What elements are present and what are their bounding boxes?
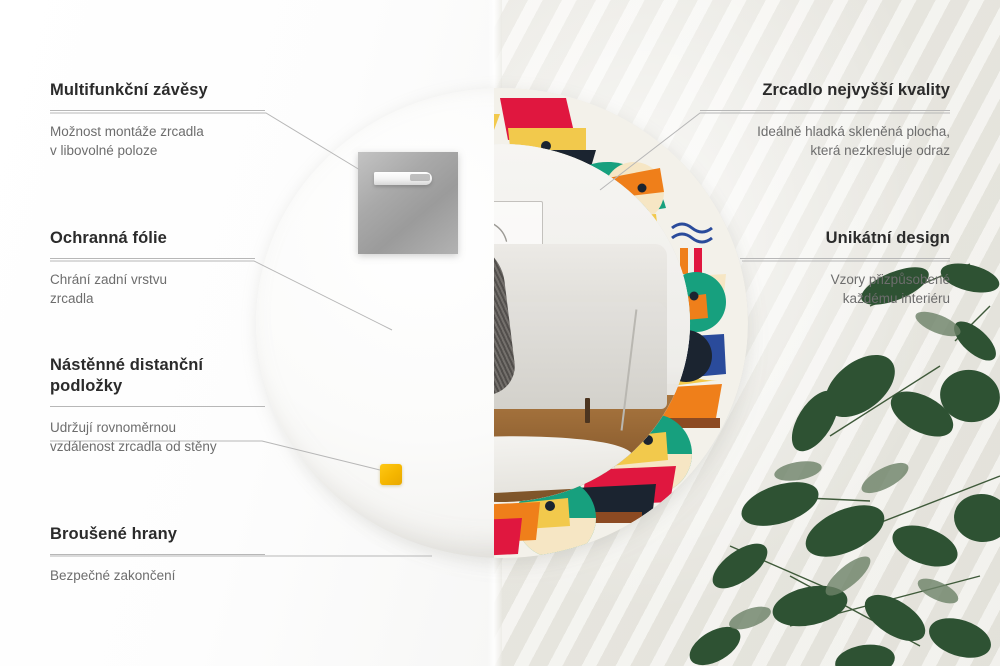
callout-desc: Vzory přizpůsobené každému interiéru xyxy=(740,270,950,308)
callout-desc-line: která nezkresluje odraz xyxy=(700,141,950,160)
callout-desc: Možnost montáže zrcadla v libovolné polo… xyxy=(50,122,265,160)
hanger-plate xyxy=(358,152,458,254)
callout-rule xyxy=(50,258,255,259)
round-mirror-product xyxy=(256,88,748,558)
callout-multifunctional-hangers: Multifunkční závěsy Možnost montáže zrca… xyxy=(50,80,265,160)
callout-title-line: podložky xyxy=(50,376,265,397)
callout-desc: Ideálně hladká skleněná plocha, která ne… xyxy=(700,122,950,160)
callout-rule xyxy=(50,406,265,407)
callout-desc: Chrání zadní vrstvu zrcadla xyxy=(50,270,255,308)
callout-rule xyxy=(740,258,950,259)
callout-wall-spacers: Nástěnné distanční podložky Udržují rovn… xyxy=(50,355,265,456)
callout-title: Broušené hrany xyxy=(50,524,265,545)
callout-rule xyxy=(50,110,265,111)
callout-protective-film: Ochranná fólie Chrání zadní vrstvu zrcad… xyxy=(50,228,255,308)
callout-desc-line: v libovolné poloze xyxy=(50,141,265,160)
callout-polished-edges: Broušené hrany Bezpečné zakončení xyxy=(50,524,265,585)
callout-title: Ochranná fólie xyxy=(50,228,255,249)
callout-top-quality-mirror: Zrcadlo nejvyšší kvality Ideálně hladká … xyxy=(700,80,950,160)
callout-title: Unikátní design xyxy=(740,228,950,249)
callout-desc-line: Udržují rovnoměrnou xyxy=(50,418,265,437)
callout-title: Multifunkční závěsy xyxy=(50,80,265,101)
callout-desc-line: každému interiéru xyxy=(740,289,950,308)
callout-desc-line: Vzory přizpůsobené xyxy=(740,270,950,289)
infographic-canvas: Multifunkční závěsy Možnost montáže zrca… xyxy=(0,0,1000,666)
callout-rule xyxy=(50,554,265,555)
spacer-pad xyxy=(380,464,402,485)
callout-desc: Bezpečné zakončení xyxy=(50,566,265,585)
callout-desc-line: zrcadla xyxy=(50,289,255,308)
callout-desc: Udržují rovnoměrnou vzdálenost zrcadla o… xyxy=(50,418,265,456)
hanger-slot xyxy=(374,172,432,185)
reflected-sofa-leg xyxy=(585,398,590,423)
callout-desc-line: Ideálně hladká skleněná plocha, xyxy=(700,122,950,141)
callout-desc-line: Možnost montáže zrcadla xyxy=(50,122,265,141)
callout-rule xyxy=(700,110,950,111)
callout-unique-design: Unikátní design Vzory přizpůsobené každé… xyxy=(740,228,950,308)
callout-desc-line: vzdálenost zrcadla od stěny xyxy=(50,437,265,456)
callout-desc-line: Bezpečné zakončení xyxy=(50,566,265,585)
callout-title-line: Nástěnné distanční xyxy=(50,355,265,376)
callout-title: Zrcadlo nejvyšší kvality xyxy=(700,80,950,101)
callout-title: Nástěnné distanční podložky xyxy=(50,355,265,397)
callout-desc-line: Chrání zadní vrstvu xyxy=(50,270,255,289)
